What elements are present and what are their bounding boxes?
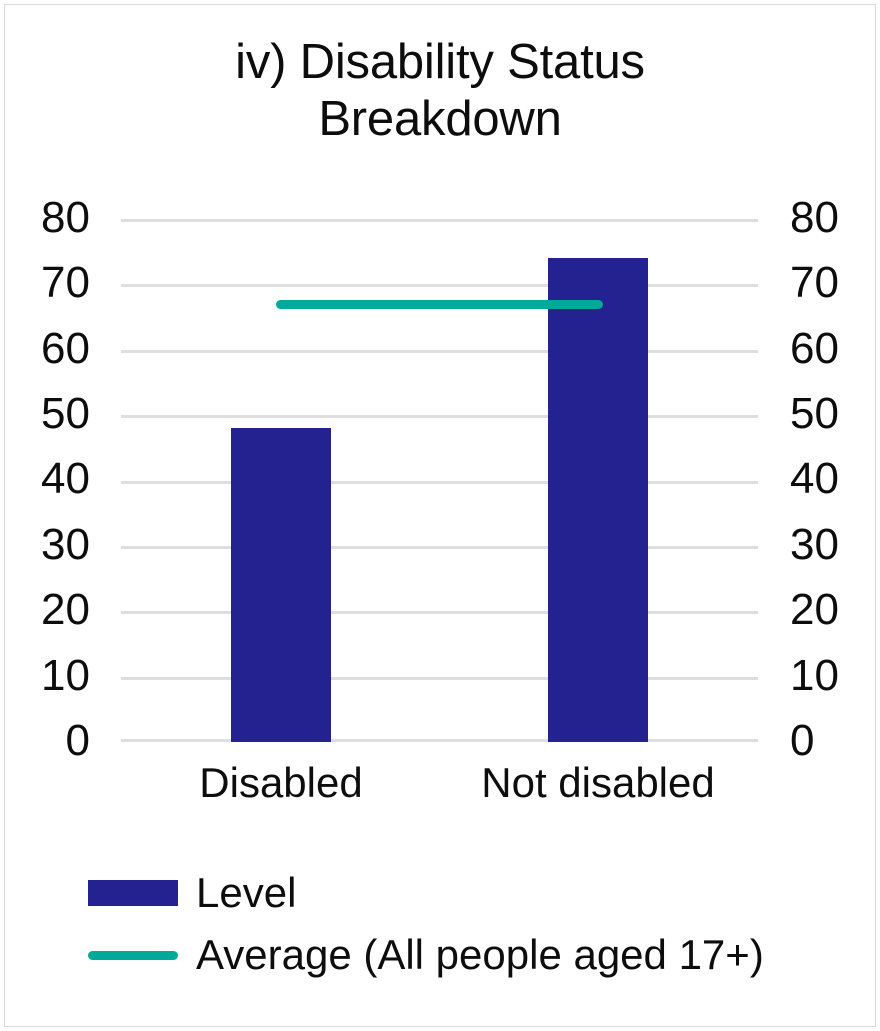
- y-axis-left-tick-0: 0: [66, 719, 90, 763]
- y-axis-right-tick-80: 80: [790, 196, 839, 240]
- chart-title-line-2: Breakdown: [0, 91, 880, 148]
- y-axis-right-tick-0: 0: [790, 719, 814, 763]
- y-axis-left-tick-50: 50: [41, 392, 90, 436]
- bar-disabled[interactable]: [231, 428, 331, 742]
- bar-not-disabled[interactable]: [548, 258, 648, 742]
- x-axis-label-not-disabled: Not disabled: [398, 762, 798, 804]
- y-axis-left-tick-60: 60: [41, 327, 90, 371]
- y-axis-right-tick-30: 30: [790, 523, 839, 567]
- y-axis-right-tick-70: 70: [790, 261, 839, 305]
- gridline-30: [121, 546, 758, 549]
- legend-bar-swatch-icon: [88, 880, 178, 906]
- chart-container: iv) Disability Status Breakdown 80 70 60…: [0, 0, 880, 1031]
- legend-item-average[interactable]: Average (All people aged 17+): [0, 924, 880, 986]
- gridline-40: [121, 481, 758, 484]
- gridline-10: [121, 677, 758, 680]
- y-axis-left-tick-20: 20: [41, 588, 90, 632]
- chart-legend: Level Average (All people aged 17+): [0, 862, 880, 986]
- plot-area: [121, 219, 758, 742]
- legend-item-level[interactable]: Level: [0, 862, 880, 924]
- y-axis-right-tick-10: 10: [790, 654, 839, 698]
- y-axis-right-tick-50: 50: [790, 392, 839, 436]
- y-axis-left-tick-70: 70: [41, 261, 90, 305]
- gridline-70: [121, 284, 758, 287]
- y-axis-right-tick-60: 60: [790, 327, 839, 371]
- average-line[interactable]: [276, 300, 603, 309]
- gridline-80: [121, 219, 758, 222]
- legend-line-swatch-icon: [88, 951, 178, 960]
- y-axis-right-tick-20: 20: [790, 588, 839, 632]
- chart-title-line-1: iv) Disability Status: [235, 35, 645, 89]
- gridline-20: [121, 611, 758, 614]
- chart-title: iv) Disability Status Breakdown: [0, 34, 880, 148]
- legend-label-level: Level: [196, 872, 296, 914]
- y-axis-left-tick-30: 30: [41, 523, 90, 567]
- y-axis-left-tick-40: 40: [41, 457, 90, 501]
- y-axis-right-tick-40: 40: [790, 457, 839, 501]
- y-axis-left-tick-80: 80: [41, 196, 90, 240]
- axis-baseline-0: [121, 739, 758, 742]
- legend-label-average: Average (All people aged 17+): [196, 934, 764, 976]
- y-axis-left-tick-10: 10: [41, 654, 90, 698]
- gridline-50: [121, 415, 758, 418]
- gridline-60: [121, 350, 758, 353]
